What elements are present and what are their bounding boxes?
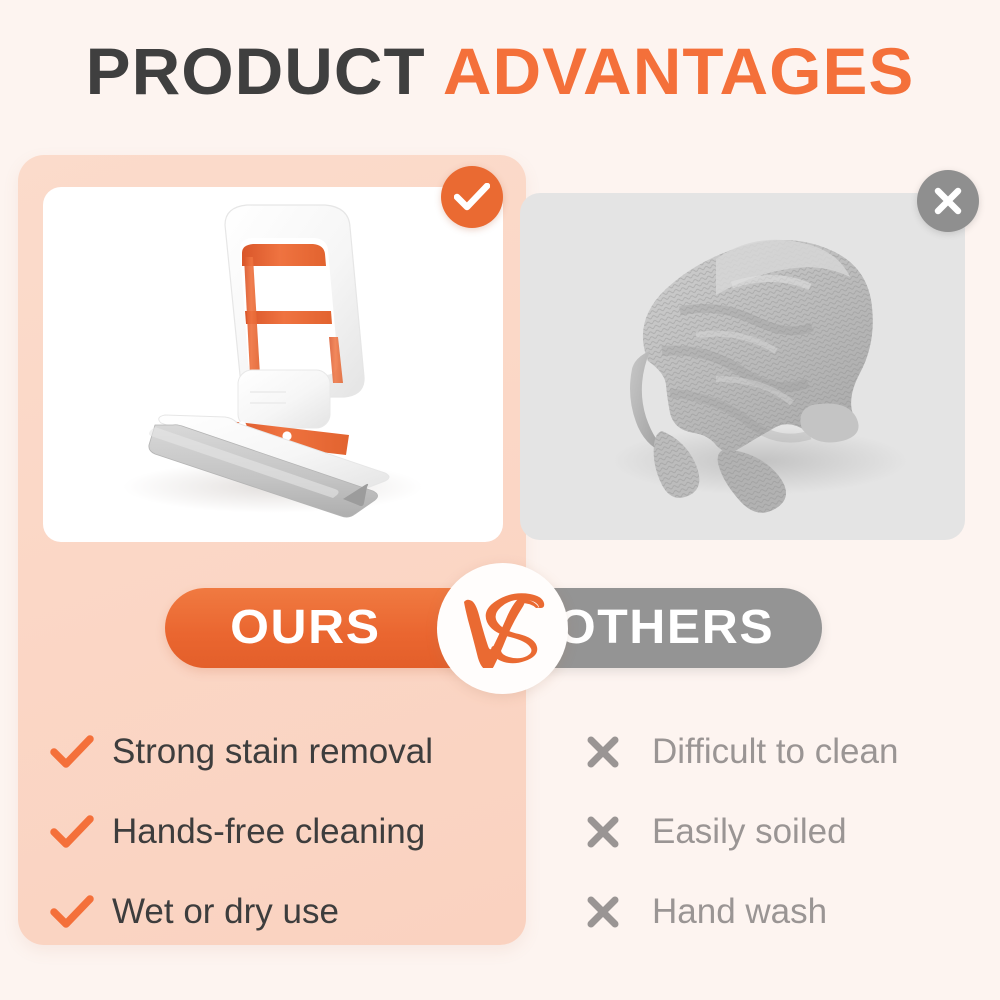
list-item: Hand wash bbox=[586, 872, 976, 952]
page-title-product: PRODUCT bbox=[86, 34, 426, 108]
others-cross-badge bbox=[917, 170, 979, 232]
ours-product-image-card bbox=[43, 187, 503, 542]
others-product-image-card bbox=[520, 193, 965, 540]
list-item-label: Wet or dry use bbox=[112, 893, 339, 932]
cross-icon bbox=[586, 815, 652, 849]
page-title-advantages: ADVANTAGES bbox=[443, 34, 914, 108]
list-item: Hands-free cleaning bbox=[50, 792, 520, 872]
others-feature-list: Difficult to clean Easily soiled Hand wa… bbox=[586, 712, 976, 952]
vs-badge bbox=[437, 563, 568, 694]
cross-icon bbox=[586, 735, 652, 769]
vs-brush-icon bbox=[455, 590, 551, 668]
check-icon bbox=[50, 895, 112, 929]
list-item: Wet or dry use bbox=[50, 872, 520, 952]
cross-icon bbox=[586, 895, 652, 929]
list-item-label: Strong stain removal bbox=[112, 733, 433, 772]
list-item-label: Easily soiled bbox=[652, 813, 847, 852]
list-item-label: Difficult to clean bbox=[652, 733, 898, 772]
list-item: Easily soiled bbox=[586, 792, 976, 872]
ours-bar-label: OURS bbox=[230, 604, 380, 652]
ours-check-badge bbox=[441, 166, 503, 228]
list-item: Difficult to clean bbox=[586, 712, 976, 792]
page-title: PRODUCT ADVANTAGES bbox=[0, 38, 1000, 104]
check-icon bbox=[454, 183, 490, 211]
check-icon bbox=[50, 735, 112, 769]
squeegee-product-illustration bbox=[43, 187, 503, 542]
list-item: Strong stain removal bbox=[50, 712, 520, 792]
cross-icon bbox=[932, 185, 964, 217]
others-bar-label: OTHERS bbox=[557, 604, 774, 652]
ours-feature-list: Strong stain removal Hands-free cleaning… bbox=[50, 712, 520, 952]
list-item-label: Hand wash bbox=[652, 893, 827, 932]
microfiber-towel-illustration bbox=[520, 193, 965, 540]
check-icon bbox=[50, 815, 112, 849]
list-item-label: Hands-free cleaning bbox=[112, 813, 425, 852]
